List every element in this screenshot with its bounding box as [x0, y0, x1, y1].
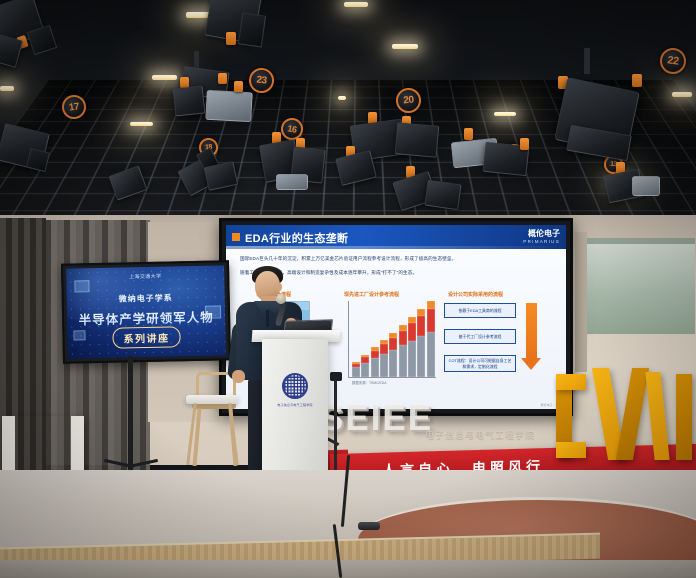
bar-segment	[380, 344, 388, 353]
wall-panel	[575, 232, 587, 372]
bar-segment	[399, 331, 407, 345]
lecture-hall-photo: 17 23 18 16 20 22 19 13	[0, 0, 696, 578]
bar-segment	[380, 354, 388, 377]
bar-segment	[389, 350, 397, 377]
process-option-box: 基于代工厂设计参考流程	[444, 329, 516, 344]
bar-segment	[408, 323, 416, 340]
banner-series-pill: 系列讲座	[112, 326, 180, 348]
truss-marker-22: 22	[659, 47, 688, 76]
banner-line-1: 微纳电子学系	[119, 292, 173, 304]
bar-segment	[417, 309, 425, 316]
truss-marker-label: 20	[403, 95, 414, 107]
bar-segment	[427, 301, 435, 309]
yellow-letter-e-arm	[556, 374, 586, 390]
window	[585, 238, 695, 334]
university-logo-text: 上海交通大学	[129, 273, 162, 281]
truss-marker-label: 16	[287, 123, 298, 134]
bar-segment	[417, 336, 425, 377]
stacked-bar-chart	[352, 301, 436, 377]
banner-line-2: 半导体产学研领军人物	[78, 307, 213, 329]
truss-marker-label: 17	[68, 101, 80, 113]
truss-marker-label: 22	[667, 54, 680, 67]
bar-column	[361, 355, 369, 377]
bar-column	[408, 317, 416, 377]
decor-square	[73, 330, 85, 340]
slide-section-right: 设计公司实际采用的流程	[448, 291, 503, 298]
process-option-box: 依赖于EDA工具商的流程	[444, 303, 516, 318]
floor-connector-box	[358, 522, 380, 530]
company-logo-cn: 概伦电子	[528, 230, 560, 238]
down-arrow-icon	[526, 303, 537, 359]
bar-column	[380, 340, 388, 377]
bar-segment	[427, 332, 435, 377]
ceiling-light	[344, 2, 368, 7]
slide-header: EDA行业的生态垄断 概伦电子 PRIMARIUS	[226, 225, 566, 249]
bar-column	[389, 333, 397, 377]
bar-column	[399, 325, 407, 377]
speaker-shirt-placket	[266, 310, 269, 327]
chart-caption: 数据来源：TSMC/EDA	[352, 380, 386, 385]
speaker-left-hand	[232, 370, 245, 383]
podium-emblem-text: 电子信息与电气工程学院	[277, 403, 312, 407]
yellow-letter-e-arm	[556, 442, 586, 458]
school-name-sign: 电子信息与电气工程学院	[425, 428, 535, 441]
ceiling-light	[494, 112, 516, 116]
chart-y-axis	[348, 301, 349, 377]
bar-column	[371, 347, 379, 377]
ceiling-light	[392, 44, 418, 49]
slide-title: EDA行业的生态垄断	[245, 230, 348, 246]
company-logo-en: PRIMARIUS	[523, 239, 560, 244]
bar-column	[417, 309, 425, 377]
ceiling-light	[672, 92, 692, 97]
ceiling-light	[338, 96, 346, 100]
bar-segment	[417, 316, 425, 336]
bar-segment	[427, 309, 435, 332]
bar-segment	[361, 363, 369, 377]
ceiling-light	[130, 122, 153, 126]
bar-segment	[371, 351, 379, 358]
bar-segment	[389, 338, 397, 350]
yellow-letter-l	[676, 374, 692, 460]
event-banner-tv: 上海交通大学 微纳电子学系 半导体产学研领军人物 系列讲座	[61, 260, 231, 363]
slide-paragraph-2: 随着工艺制程的发展，高端设计和制造复杂性及成本逐年攀升，形成"打不了"的生态。	[240, 269, 540, 277]
bar-segment	[371, 358, 379, 377]
slide-section-mid: 现先进工厂设计参考流程	[344, 291, 399, 298]
bar-column	[352, 362, 360, 377]
banner-screen: 上海交通大学 微纳电子学系 半导体产学研领军人物 系列讲座	[66, 265, 226, 358]
title-bullet-icon	[232, 233, 240, 241]
stage-front-floor	[0, 560, 696, 578]
tripod-leg	[334, 380, 337, 476]
ceiling: 17 23 18 16 20 22 19 13	[0, 0, 696, 232]
decor-square	[74, 280, 89, 292]
bar-segment	[352, 367, 360, 377]
speaker-ear	[277, 283, 282, 291]
truss-marker-label: 23	[256, 75, 267, 87]
banner-stand-pole	[128, 356, 133, 474]
university-emblem-icon	[282, 373, 308, 399]
ceiling-light	[0, 86, 14, 91]
process-option-box: COT流程：设计公司可根据自身工艺和需求，定制化流程	[444, 355, 516, 372]
window	[585, 238, 695, 244]
chart-x-axis	[348, 377, 436, 378]
bar-segment	[408, 341, 416, 377]
ceiling-light	[152, 75, 177, 80]
bar-column	[427, 301, 435, 377]
slide-paragraph-1: 国际EDA巨头几十年的沉淀，积累上万亿美金芯片验证用户流程参考设计流程，形成了极…	[240, 255, 540, 263]
bar-segment	[399, 345, 407, 377]
